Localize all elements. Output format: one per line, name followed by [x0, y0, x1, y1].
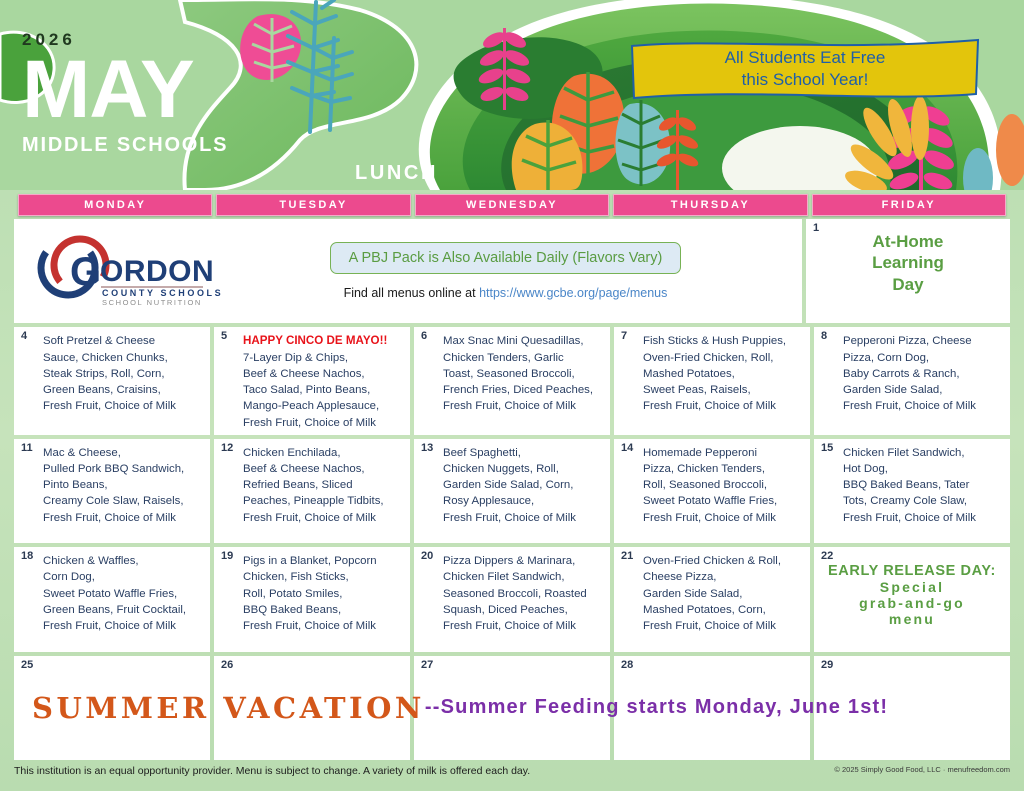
- day-cell-11: 11 Mac & Cheese, Pulled Pork BBQ Sandwic…: [14, 439, 210, 543]
- menu-line: Mashed Potatoes, Corn,: [643, 602, 804, 618]
- ribbon-text: All Students Eat Free this School Year!: [630, 38, 980, 100]
- menu-line: Fresh Fruit, Choice of Milk: [443, 618, 604, 634]
- menu-line: Refried Beans, Sliced: [243, 477, 404, 493]
- menu-line: Fresh Fruit, Choice of Milk: [843, 398, 1004, 414]
- menu-items: Pepperoni Pizza, Cheese Pizza, Corn Dog,…: [843, 333, 1004, 414]
- menu-line: Rosy Applesauce,: [443, 493, 604, 509]
- calendar-week-5: 25 26 27 28 29 SUMMER VACATION--Summer F…: [14, 656, 1010, 760]
- menu-line: Beef Spaghetti,: [443, 445, 604, 461]
- day-cell-19: 19 Pigs in a Blanket, Popcorn Chicken, F…: [214, 547, 410, 651]
- day-number: 26: [221, 659, 233, 671]
- day-cell-22: 22 EARLY RELEASE DAY: Special grab-and-g…: [814, 547, 1010, 651]
- menu-line: Baby Carrots & Ranch,: [843, 366, 1004, 382]
- svg-text:ORDON: ORDON: [100, 255, 214, 288]
- day-cell-27: 27: [414, 656, 610, 760]
- menu-items: Beef Spaghetti, Chicken Nuggets, Roll, G…: [443, 445, 604, 526]
- day-number: 12: [221, 442, 233, 454]
- menu-line: Homemade Pepperoni: [643, 445, 804, 461]
- day-number: 7: [621, 330, 627, 342]
- menu-line: Fresh Fruit, Choice of Milk: [643, 398, 804, 414]
- day-number: 18: [21, 550, 33, 562]
- day-number: 28: [621, 659, 633, 671]
- gordon-logo-icon: G ORDON COUNTY SCHOOLS SCHOOL NUTRITION: [28, 235, 228, 307]
- school-type-label: MIDDLE SCHOOLS: [22, 134, 228, 157]
- menu-line: Chicken Filet Sandwich,: [843, 445, 1004, 461]
- menu-items: Mac & Cheese, Pulled Pork BBQ Sandwich, …: [43, 445, 204, 526]
- weekday-header-tuesday: TUESDAY: [216, 194, 410, 216]
- day-number: 15: [821, 442, 833, 454]
- day-cell-25: 25: [14, 656, 210, 760]
- menu-line: Green Beans, Craisins,: [43, 382, 204, 398]
- menu-line: Sweet Peas, Raisels,: [643, 382, 804, 398]
- menu-line: Oven-Fried Chicken, Roll,: [643, 350, 804, 366]
- menu-line: Chicken Nuggets, Roll,: [443, 461, 604, 477]
- footer: This institution is an equal opportunity…: [0, 760, 1024, 791]
- menu-line: Garden Side Salad, Corn,: [443, 477, 604, 493]
- day-number: 29: [821, 659, 833, 671]
- menu-line: Soft Pretzel & Cheese: [43, 333, 204, 349]
- menu-line: Seasoned Broccoli, Roasted: [443, 586, 604, 602]
- calendar-week-1: G ORDON COUNTY SCHOOLS SCHOOL NUTRITION …: [14, 219, 1010, 323]
- menu-line: Mac & Cheese,: [43, 445, 204, 461]
- day-cell-5: 5 HAPPY CINCO DE MAYO!! 7-Layer Dip & Ch…: [214, 327, 410, 434]
- menu-line: Fresh Fruit, Choice of Milk: [643, 618, 804, 634]
- menu-line: Roll, Potato Smiles,: [243, 586, 404, 602]
- menu-line: Sauce, Chicken Chunks,: [43, 350, 204, 366]
- menu-line: Toast, Seasoned Broccoli,: [443, 366, 604, 382]
- menu-line: French Fries, Diced Peaches,: [443, 382, 604, 398]
- calendar-week-2: 4 Soft Pretzel & Cheese Sauce, Chicken C…: [14, 327, 1010, 434]
- ribbon-line-1: All Students Eat Free: [725, 47, 886, 69]
- menu-line: Fresh Fruit, Choice of Milk: [443, 398, 604, 414]
- menu-line: Pepperoni Pizza, Cheese: [843, 333, 1004, 349]
- month-label: MAY: [22, 52, 228, 127]
- calendar-grid: G ORDON COUNTY SCHOOLS SCHOOL NUTRITION …: [14, 219, 1010, 760]
- svg-text:COUNTY SCHOOLS: COUNTY SCHOOLS: [102, 288, 223, 298]
- meal-type-label: LUNCH: [355, 162, 438, 185]
- menu-line: Fresh Fruit, Choice of Milk: [843, 510, 1004, 526]
- menu-line: Hot Dog,: [843, 461, 1004, 477]
- menus-url-link[interactable]: https://www.gcbe.org/page/menus: [479, 286, 667, 300]
- title-block: 2026 MAY MIDDLE SCHOOLS: [22, 30, 228, 157]
- calendar-week-4: 18 Chicken & Waffles, Corn Dog, Sweet Po…: [14, 547, 1010, 651]
- day-cell-12: 12 Chicken Enchilada, Beef & Cheese Nach…: [214, 439, 410, 543]
- menu-items: Fish Sticks & Hush Puppies, Oven-Fried C…: [643, 333, 804, 414]
- day-number: 5: [221, 330, 227, 342]
- menu-line: Mashed Potatoes,: [643, 366, 804, 382]
- menu-line: Cheese Pizza,: [643, 569, 804, 585]
- pbj-note: A PBJ Pack is Also Available Daily (Flav…: [330, 242, 682, 274]
- day-number: 19: [221, 550, 233, 562]
- day-number: 8: [821, 330, 827, 342]
- menu-items: HAPPY CINCO DE MAYO!! 7-Layer Dip & Chip…: [243, 333, 404, 430]
- early-release-line-4: menu: [820, 611, 1004, 627]
- day-cell-13: 13 Beef Spaghetti, Chicken Nuggets, Roll…: [414, 439, 610, 543]
- special-line-3: Day: [812, 274, 1004, 295]
- day-number: 14: [621, 442, 633, 454]
- menu-items: Chicken & Waffles, Corn Dog, Sweet Potat…: [43, 553, 204, 634]
- eat-free-ribbon: All Students Eat Free this School Year!: [630, 38, 980, 100]
- special-line-1: At-Home: [812, 231, 1004, 252]
- header-banner: 2026 MAY MIDDLE SCHOOLS LUNCH All Studen…: [0, 0, 1024, 190]
- cinco-de-mayo-headline: HAPPY CINCO DE MAYO!!: [243, 333, 404, 349]
- weekday-header-wednesday: WEDNESDAY: [415, 194, 609, 216]
- day-cell-8: 8 Pepperoni Pizza, Cheese Pizza, Corn Do…: [814, 327, 1010, 434]
- menu-line: Creamy Cole Slaw, Raisels,: [43, 493, 204, 509]
- menu-items: Max Snac Mini Quesadillas, Chicken Tende…: [443, 333, 604, 414]
- early-release-line-3: grab-and-go: [820, 595, 1004, 611]
- menu-line: Fresh Fruit, Choice of Milk: [643, 510, 804, 526]
- early-release-line-2: Special: [820, 579, 1004, 595]
- menu-line: Oven-Fried Chicken & Roll,: [643, 553, 804, 569]
- day-number: 20: [421, 550, 433, 562]
- menu-line: Fresh Fruit, Choice of Milk: [43, 510, 204, 526]
- day-cell-18: 18 Chicken & Waffles, Corn Dog, Sweet Po…: [14, 547, 210, 651]
- menus-online-label: Find all menus online at: [344, 286, 480, 300]
- menu-line: Pizza, Corn Dog,: [843, 350, 1004, 366]
- menu-line: BBQ Baked Beans, Tater: [843, 477, 1004, 493]
- footer-disclaimer: This institution is an equal opportunity…: [14, 765, 530, 777]
- day-number: 11: [21, 442, 33, 454]
- menu-line: Chicken, Fish Sticks,: [243, 569, 404, 585]
- menu-items: Chicken Enchilada, Beef & Cheese Nachos,…: [243, 445, 404, 526]
- menu-line: Pizza, Chicken Tenders,: [643, 461, 804, 477]
- weekday-header-friday: FRIDAY: [812, 194, 1006, 216]
- day-cell-6: 6 Max Snac Mini Quesadillas, Chicken Ten…: [414, 327, 610, 434]
- day-number: 13: [421, 442, 433, 454]
- special-line-2: Learning: [812, 252, 1004, 273]
- day-cell-29: 29: [814, 656, 1010, 760]
- day-cell-4: 4 Soft Pretzel & Cheese Sauce, Chicken C…: [14, 327, 210, 434]
- day-cell-15: 15 Chicken Filet Sandwich, Hot Dog, BBQ …: [814, 439, 1010, 543]
- menu-items: Pizza Dippers & Marinara, Chicken Filet …: [443, 553, 604, 634]
- at-home-learning-day-note: At-Home Learning Day: [812, 231, 1004, 295]
- menu-line: Garden Side Salad,: [843, 382, 1004, 398]
- menu-items: Homemade Pepperoni Pizza, Chicken Tender…: [643, 445, 804, 526]
- calendar-week-3: 11 Mac & Cheese, Pulled Pork BBQ Sandwic…: [14, 439, 1010, 543]
- day-cell-14: 14 Homemade Pepperoni Pizza, Chicken Ten…: [614, 439, 810, 543]
- menu-line: Beef & Cheese Nachos,: [243, 366, 404, 382]
- day-number: 27: [421, 659, 433, 671]
- day-cell-20: 20 Pizza Dippers & Marinara, Chicken Fil…: [414, 547, 610, 651]
- menu-line: Chicken Enchilada,: [243, 445, 404, 461]
- menu-line: Fresh Fruit, Choice of Milk: [43, 398, 204, 414]
- info-notes: A PBJ Pack is Also Available Daily (Flav…: [235, 242, 796, 300]
- svg-text:SCHOOL NUTRITION: SCHOOL NUTRITION: [102, 298, 202, 307]
- menu-line: Beef & Cheese Nachos,: [243, 461, 404, 477]
- menus-online-note: Find all menus online at https://www.gcb…: [344, 286, 668, 300]
- day-number: 22: [821, 550, 833, 562]
- weekday-header-row: MONDAY TUESDAY WEDNESDAY THURSDAY FRIDAY: [0, 194, 1024, 216]
- day-number: 1: [813, 222, 819, 234]
- day-cell-1: 1 At-Home Learning Day: [806, 219, 1010, 323]
- menu-line: Pizza Dippers & Marinara,: [443, 553, 604, 569]
- menu-line: Fish Sticks & Hush Puppies,: [643, 333, 804, 349]
- svg-text:G: G: [70, 250, 101, 294]
- menu-line: 7-Layer Dip & Chips,: [243, 350, 404, 366]
- early-release-line-1: EARLY RELEASE DAY:: [820, 563, 1004, 579]
- menu-line: Max Snac Mini Quesadillas,: [443, 333, 604, 349]
- weekday-header-monday: MONDAY: [18, 194, 212, 216]
- menu-line: Tots, Creamy Cole Slaw,: [843, 493, 1004, 509]
- menu-line: Fresh Fruit, Choice of Milk: [43, 618, 204, 634]
- menu-items: Oven-Fried Chicken & Roll, Cheese Pizza,…: [643, 553, 804, 634]
- menu-line: Fresh Fruit, Choice of Milk: [243, 618, 404, 634]
- day-cell-28: 28: [614, 656, 810, 760]
- menu-line: Pulled Pork BBQ Sandwich,: [43, 461, 204, 477]
- menu-line: Taco Salad, Pinto Beans,: [243, 382, 404, 398]
- day-cell-21: 21 Oven-Fried Chicken & Roll, Cheese Piz…: [614, 547, 810, 651]
- early-release-note: EARLY RELEASE DAY: Special grab-and-go m…: [820, 563, 1004, 627]
- menu-line: Steak Strips, Roll, Corn,: [43, 366, 204, 382]
- menu-line: Fresh Fruit, Choice of Milk: [243, 415, 404, 431]
- menu-line: Sweet Potato Waffle Fries,: [43, 586, 204, 602]
- menu-line: Pigs in a Blanket, Popcorn: [243, 553, 404, 569]
- menu-line: Fresh Fruit, Choice of Milk: [243, 510, 404, 526]
- menu-line: Mango-Peach Applesauce,: [243, 398, 404, 414]
- menu-items: Soft Pretzel & Cheese Sauce, Chicken Chu…: [43, 333, 204, 414]
- day-number: 21: [621, 550, 633, 562]
- day-cell-26: 26: [214, 656, 410, 760]
- menu-line: Chicken Filet Sandwich,: [443, 569, 604, 585]
- menu-line: Chicken Tenders, Garlic: [443, 350, 604, 366]
- day-number: 25: [21, 659, 33, 671]
- ribbon-line-2: this School Year!: [742, 69, 869, 91]
- menu-line: BBQ Baked Beans,: [243, 602, 404, 618]
- menu-line: Corn Dog,: [43, 569, 204, 585]
- menu-items: Pigs in a Blanket, Popcorn Chicken, Fish…: [243, 553, 404, 634]
- day-number: 6: [421, 330, 427, 342]
- calendar-page: 2026 MAY MIDDLE SCHOOLS LUNCH All Studen…: [0, 0, 1024, 791]
- info-cell: G ORDON COUNTY SCHOOLS SCHOOL NUTRITION …: [14, 219, 802, 323]
- menu-line: Peaches, Pineapple Tidbits,: [243, 493, 404, 509]
- day-number: 4: [21, 330, 27, 342]
- day-cell-7: 7 Fish Sticks & Hush Puppies, Oven-Fried…: [614, 327, 810, 434]
- menu-line: Green Beans, Fruit Cocktail,: [43, 602, 204, 618]
- gordon-logo: G ORDON COUNTY SCHOOLS SCHOOL NUTRITION: [20, 235, 235, 307]
- menu-line: Chicken & Waffles,: [43, 553, 204, 569]
- menu-line: Roll, Seasoned Broccoli,: [643, 477, 804, 493]
- menu-line: Pinto Beans,: [43, 477, 204, 493]
- menu-line: Garden Side Salad,: [643, 586, 804, 602]
- weekday-header-thursday: THURSDAY: [613, 194, 807, 216]
- footer-credit: © 2025 Simply Good Food, LLC · menufreed…: [834, 765, 1010, 774]
- menu-line: Fresh Fruit, Choice of Milk: [443, 510, 604, 526]
- menu-line: Squash, Diced Peaches,: [443, 602, 604, 618]
- menu-line: Sweet Potato Waffle Fries,: [643, 493, 804, 509]
- menu-items: Chicken Filet Sandwich, Hot Dog, BBQ Bak…: [843, 445, 1004, 526]
